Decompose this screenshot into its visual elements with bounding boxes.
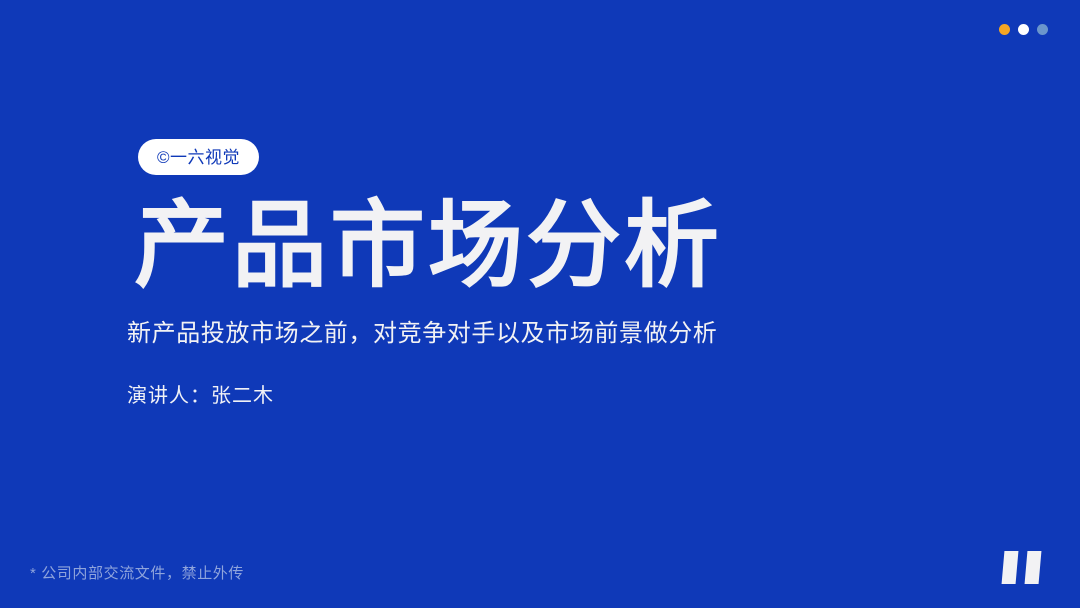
brand-badge: ©一六视觉 — [138, 139, 259, 175]
title-slide: ©一六视觉 产品市场分析 新产品投放市场之前，对竞争对手以及市场前景做分析 演讲… — [0, 0, 1080, 608]
confidentiality-note: * 公司内部交流文件，禁止外传 — [30, 563, 244, 584]
quote-bar-left — [1002, 551, 1019, 584]
dot-amber-icon — [999, 24, 1010, 35]
page-title: 产品市场分析 — [134, 196, 722, 297]
dot-white-icon — [1018, 24, 1029, 35]
brand-badge-label: ©一六视觉 — [157, 149, 240, 166]
quote-bar-right — [1025, 551, 1042, 584]
subtitle: 新产品投放市场之前，对竞争对手以及市场前景做分析 — [127, 318, 717, 350]
presenter-label: 演讲人：张二木 — [127, 382, 274, 410]
decor-dot-group — [999, 24, 1048, 35]
dot-blue-icon — [1037, 24, 1048, 35]
quote-icon — [1003, 551, 1045, 584]
